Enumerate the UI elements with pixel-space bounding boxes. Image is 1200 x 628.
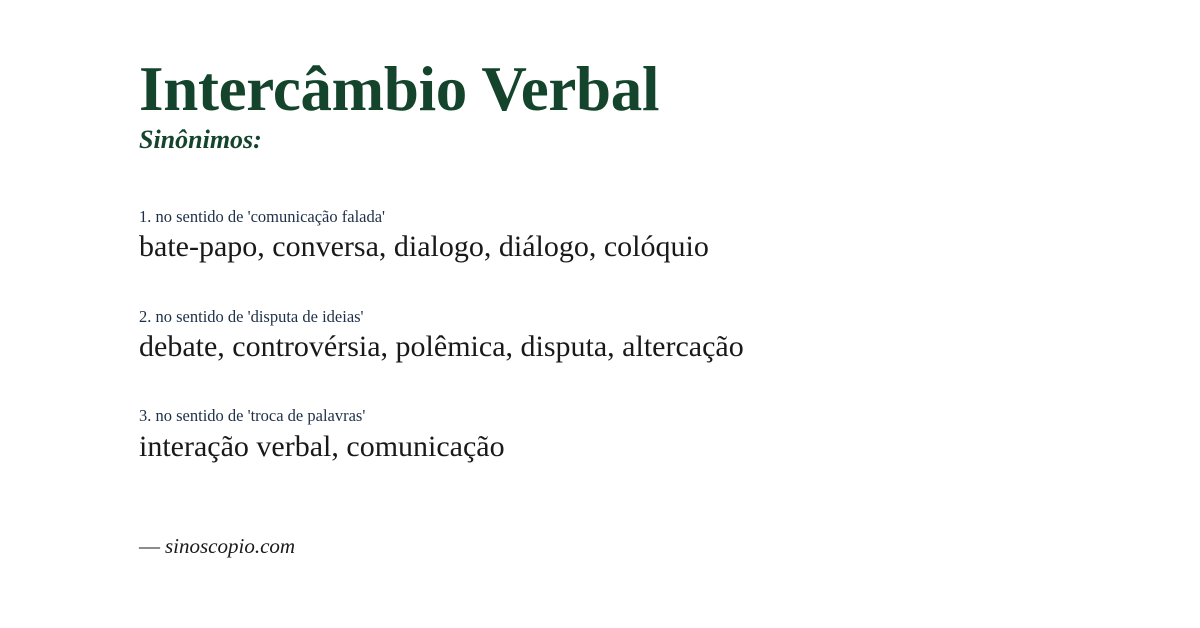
sense-block-3: 3. no sentido de 'troca de palavras' int… — [139, 406, 1139, 465]
card-header: Intercâmbio Verbal Sinônimos: — [139, 58, 1139, 153]
synonym-card: Intercâmbio Verbal Sinônimos: 1. no sent… — [139, 0, 1159, 628]
source-name: sinoscopio.com — [165, 534, 295, 558]
sense-label-3: 3. no sentido de 'troca de palavras' — [139, 406, 1139, 426]
sense-label-2: 2. no sentido de 'disputa de ideias' — [139, 307, 1139, 327]
card-footer: —sinoscopio.com — [139, 535, 739, 558]
source-credit: —sinoscopio.com — [139, 535, 739, 558]
sense-synonyms-3: interação verbal, comunicação — [139, 429, 1139, 466]
synonyms-subtitle: Sinônimos: — [139, 127, 1139, 153]
sense-label-1: 1. no sentido de 'comunicação falada' — [139, 207, 1139, 227]
sense-synonyms-1: bate-papo, conversa, dialogo, diálogo, c… — [139, 229, 1139, 266]
senses-list: 1. no sentido de 'comunicação falada' ba… — [139, 207, 1139, 465]
sense-block-2: 2. no sentido de 'disputa de ideias' deb… — [139, 307, 1139, 366]
sense-block-1: 1. no sentido de 'comunicação falada' ba… — [139, 207, 1139, 266]
em-dash-icon: — — [139, 534, 165, 558]
sense-synonyms-2: debate, controvérsia, polêmica, disputa,… — [139, 329, 1139, 366]
page-title: Intercâmbio Verbal — [139, 58, 1139, 121]
